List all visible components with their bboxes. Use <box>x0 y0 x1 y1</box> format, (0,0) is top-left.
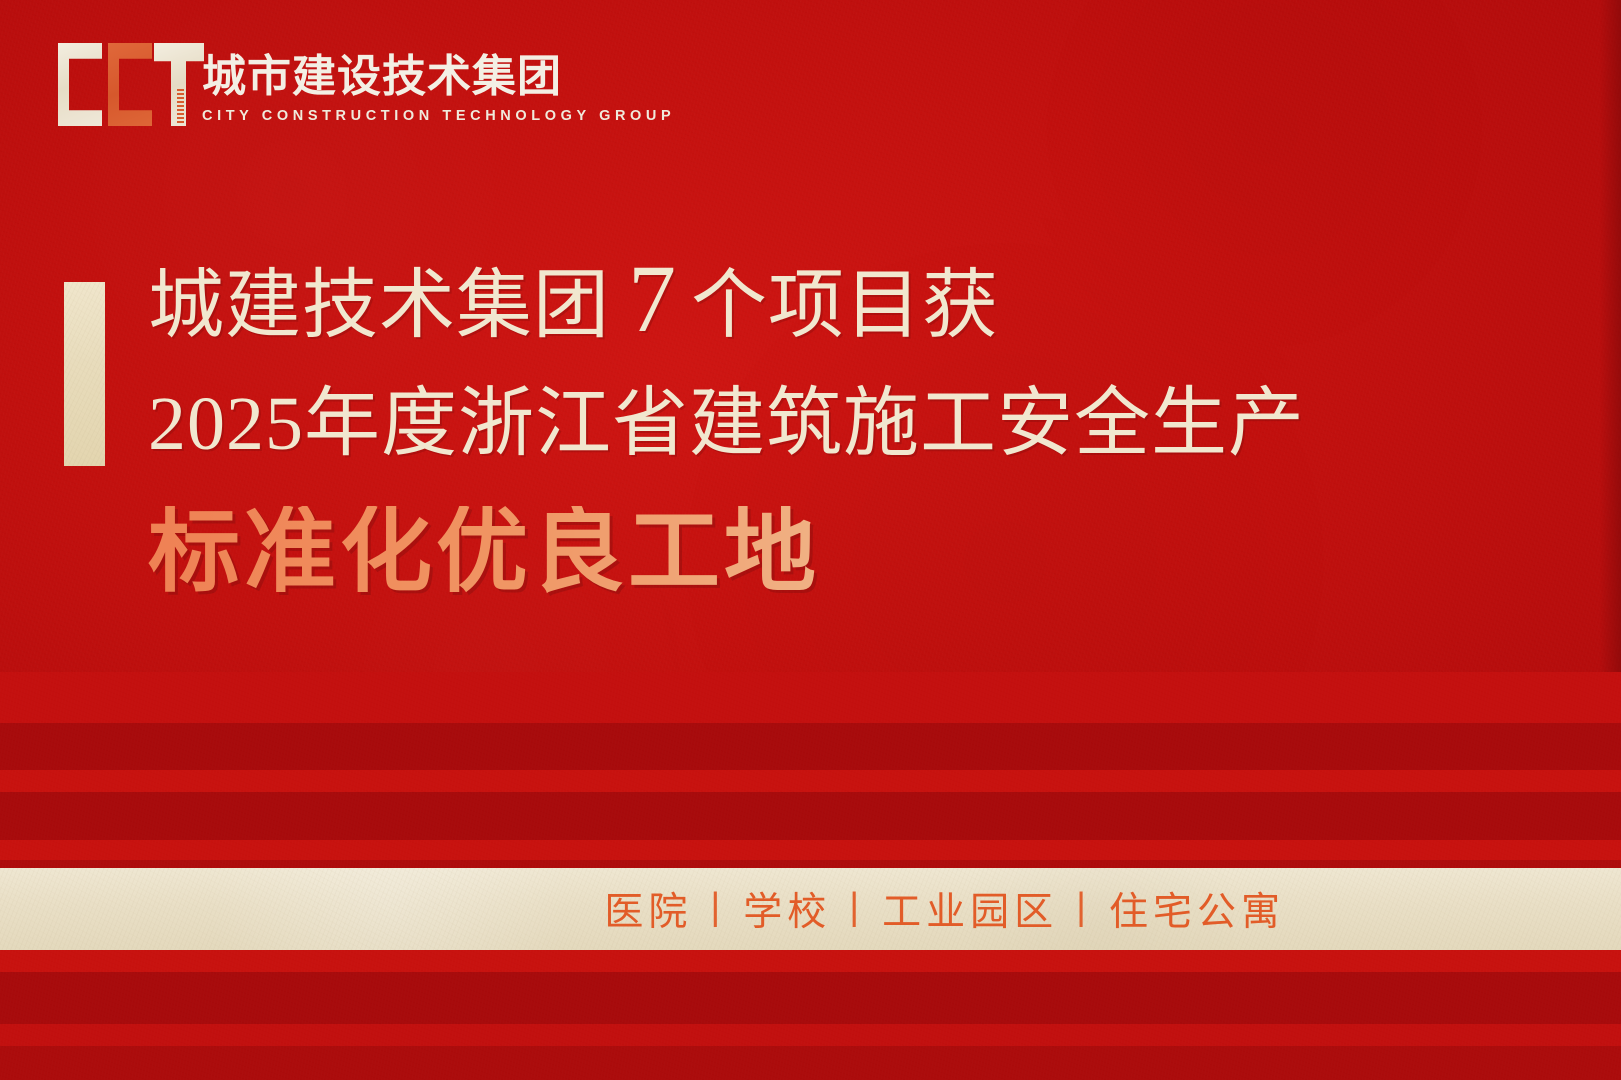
headline-line-3-highlight: 标准化优良工地 <box>148 506 1468 598</box>
poster-canvas: 医院 | 学校 | 工业园区 | 住宅公寓 城市建设技术集团 CITY CONS… <box>0 0 1621 1080</box>
tagline-separator-icon: | <box>1076 886 1091 932</box>
stripe-band-texture <box>0 1046 1621 1080</box>
stripe-band <box>0 860 1621 868</box>
tagline-separator-icon: | <box>710 886 725 932</box>
logo-letter-c-orange-icon <box>108 43 152 126</box>
tagline-item-residential: 住宅公寓 <box>1091 881 1303 937</box>
stripe-band <box>0 672 1621 723</box>
stripe-band-texture <box>0 1024 1621 1046</box>
headline-line-1: 城建技术集团 7 个项目获 <box>148 256 1468 344</box>
stripe-band-texture <box>0 672 1621 723</box>
stripe-band-texture <box>0 770 1621 792</box>
headline-line-1-prefix: 城建技术集团 <box>148 268 610 344</box>
brand-name-cn: 城市建设技术集团 <box>202 53 675 101</box>
logo-letter-c-white-icon <box>58 43 102 126</box>
stripe-band <box>0 840 1621 860</box>
stripe-band-texture <box>0 860 1621 868</box>
stripe-band <box>0 950 1621 972</box>
bottom-cream-banner: 医院 | 学校 | 工业园区 | 住宅公寓 <box>0 868 1621 950</box>
stripe-band <box>0 723 1621 770</box>
stripe-band-texture <box>0 840 1621 860</box>
tagline-separator-icon: | <box>849 886 864 932</box>
tagline-item-school: 学校 <box>725 881 849 937</box>
tagline-item-hospital: 医院 <box>586 881 710 937</box>
headline-line-1-suffix: 个项目获 <box>691 268 999 344</box>
cct-monogram-icon <box>58 33 186 126</box>
stripe-band-texture <box>0 723 1621 770</box>
brand-name-en: CITY CONSTRUCTION TECHNOLOGY GROUP <box>202 108 675 124</box>
stripe-band-texture <box>0 792 1621 840</box>
headline-accent-bar <box>64 282 105 466</box>
headline-line-2: 2025年度浙江省建筑施工安全生产 <box>148 386 1468 462</box>
sector-tagline: 医院 | 学校 | 工业园区 | 住宅公寓 <box>586 881 1303 937</box>
stripe-band <box>0 792 1621 840</box>
stripe-band <box>0 1024 1621 1046</box>
logo-ruler-tick-icon <box>177 89 184 125</box>
project-count-number: 7 <box>610 256 691 342</box>
accent-bar-texture <box>64 282 105 466</box>
headline-block: 城建技术集团 7 个项目获 2025年度浙江省建筑施工安全生产 标准化优良工地 <box>148 256 1468 598</box>
brand-logo: 城市建设技术集团 CITY CONSTRUCTION TECHNOLOGY GR… <box>58 33 675 126</box>
stripe-band-texture <box>0 972 1621 1024</box>
stripe-band <box>0 770 1621 792</box>
stripe-band-texture <box>0 950 1621 972</box>
tagline-item-industrial-park: 工业园区 <box>864 881 1076 937</box>
brand-wordmark: 城市建设技术集团 CITY CONSTRUCTION TECHNOLOGY GR… <box>202 53 675 126</box>
stripe-band <box>0 972 1621 1024</box>
stripe-band <box>0 1046 1621 1080</box>
